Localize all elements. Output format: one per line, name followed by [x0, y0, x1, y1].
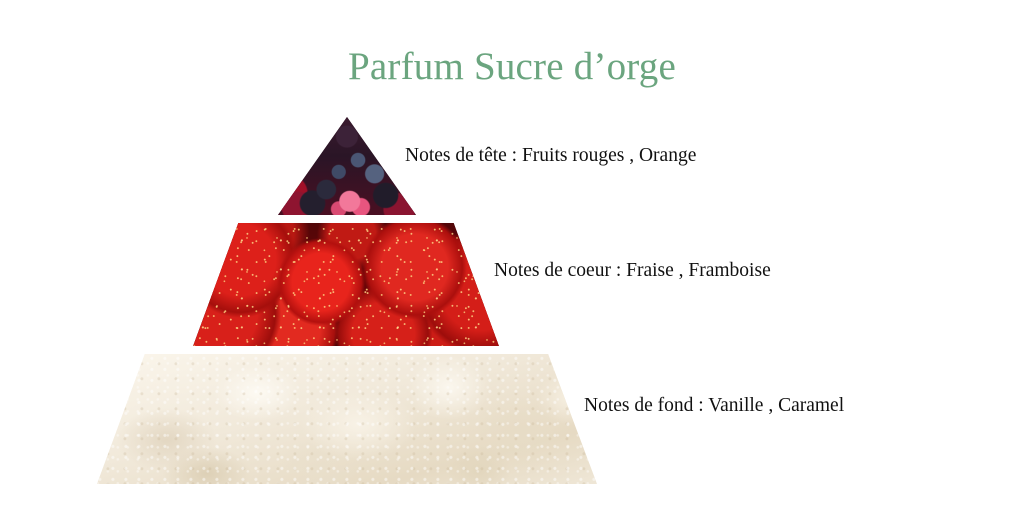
- strawberry-seeds-texture: [190, 223, 502, 346]
- fragrance-pyramid: [0, 0, 660, 512]
- note-label-tete: Notes de tête : Fruits rouges , Orange: [405, 146, 696, 166]
- fragrance-pyramid-page: Parfum Sucre d’orge Notes de tête : Frui…: [0, 0, 1024, 512]
- cream-image: [96, 354, 600, 484]
- cream-texture: [96, 354, 600, 484]
- note-label-coeur: Notes de coeur : Fraise , Framboise: [494, 261, 771, 281]
- berries-image: [278, 117, 416, 215]
- pyramid-tier-top: [278, 117, 416, 215]
- strawberries-image: [190, 223, 502, 346]
- pyramid-tier-bottom: [96, 354, 600, 484]
- pyramid-tier-middle: [190, 223, 502, 346]
- note-label-fond: Notes de fond : Vanille , Caramel: [584, 396, 844, 416]
